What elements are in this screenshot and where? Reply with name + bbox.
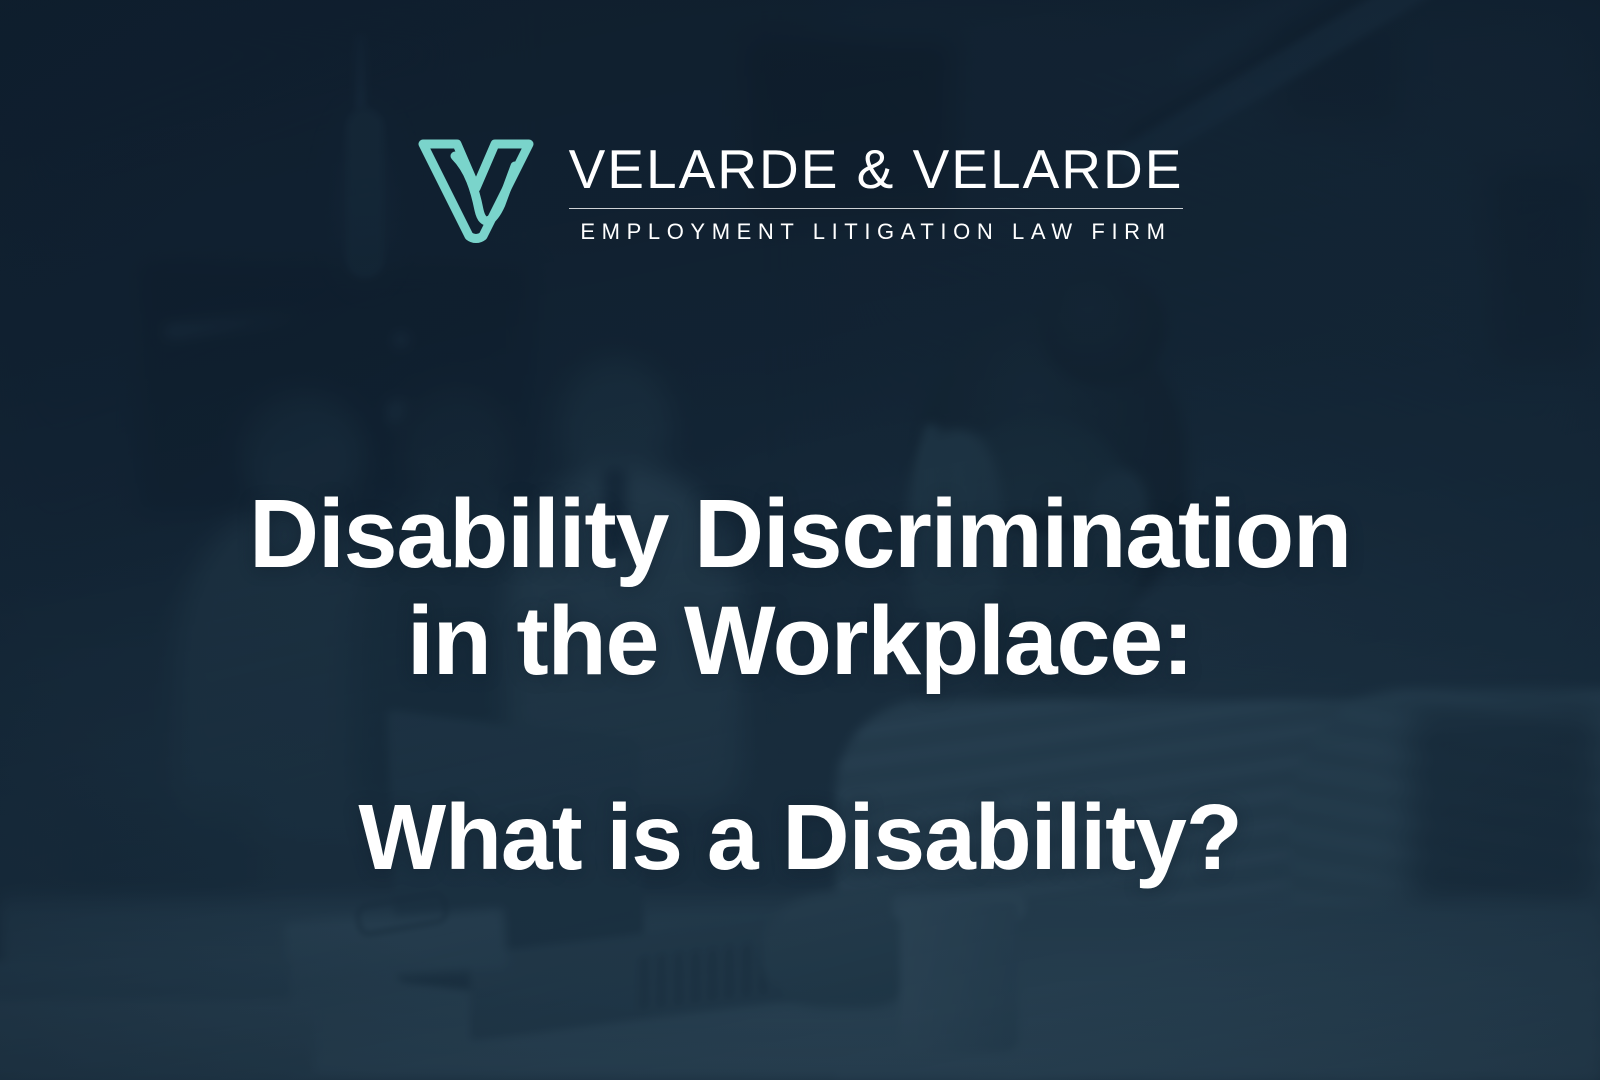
banner-content: VELARDE & VELARDE EMPLOYMENT LITIGATION … bbox=[0, 0, 1600, 1080]
brand-logo[interactable]: VELARDE & VELARDE EMPLOYMENT LITIGATION … bbox=[417, 136, 1184, 251]
page-subtitle: What is a Disability? bbox=[0, 786, 1600, 888]
velarde-double-v-monogram-icon bbox=[417, 136, 535, 251]
headline-line-1: Disability Discrimination bbox=[0, 481, 1600, 588]
headline-line-2: in the Workplace: bbox=[0, 588, 1600, 695]
brand-wordmark: VELARDE & VELARDE bbox=[569, 142, 1184, 197]
brand-divider-rule bbox=[569, 208, 1184, 210]
social-banner: VELARDE & VELARDE EMPLOYMENT LITIGATION … bbox=[0, 0, 1600, 1080]
page-title: Disability Discrimination in the Workpla… bbox=[0, 481, 1600, 694]
headline-group: Disability Discrimination in the Workpla… bbox=[0, 481, 1600, 889]
brand-tagline: EMPLOYMENT LITIGATION LAW FIRM bbox=[569, 219, 1184, 245]
brand-logo-text: VELARDE & VELARDE EMPLOYMENT LITIGATION … bbox=[569, 142, 1184, 246]
